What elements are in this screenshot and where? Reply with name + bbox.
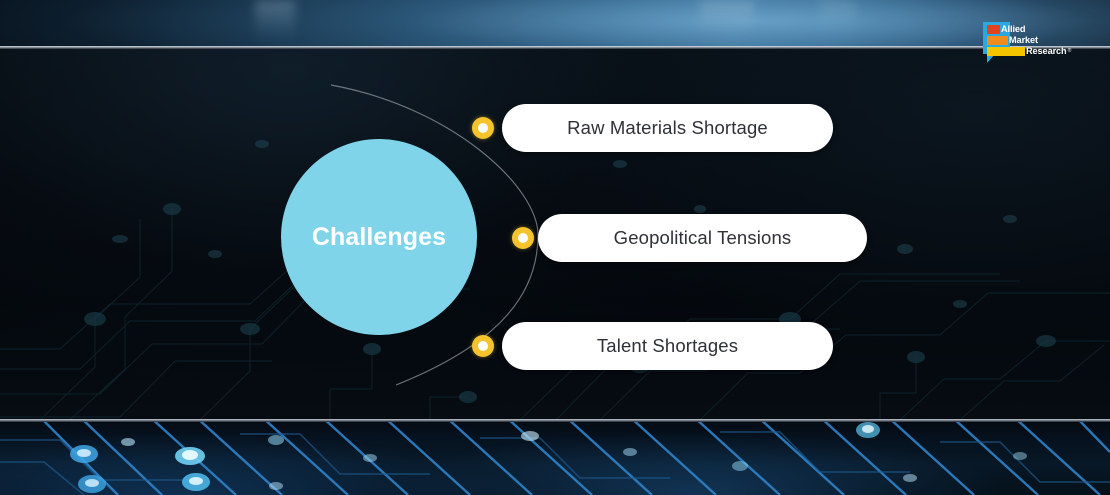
node-dot-icon-1: [472, 117, 494, 139]
infographic-canvas: Challenges Raw Materials Shortage Geopol…: [0, 0, 1110, 495]
logo-row-allied: Allied: [987, 25, 1071, 34]
challenge-pill-label: Geopolitical Tensions: [614, 227, 792, 249]
logo-trademark: ®: [1068, 47, 1072, 56]
challenge-pill-raw-materials-shortage[interactable]: Raw Materials Shortage: [502, 104, 833, 152]
challenge-pill-label: Talent Shortages: [597, 335, 738, 357]
hub-label: Challenges: [312, 223, 446, 252]
node-dot-icon-3: [472, 335, 494, 357]
header-light-wisp: [700, 0, 754, 47]
logo-bar-red: [987, 25, 1000, 34]
challenge-pill-talent-shortages[interactable]: Talent Shortages: [502, 322, 833, 370]
header-light-wisp: [255, 0, 295, 47]
bottom-circuit-traces-icon: [0, 422, 1110, 495]
center-hub-circle: Challenges: [281, 139, 477, 335]
logo-row-market: Market: [987, 36, 1071, 45]
logo-text-rows: Allied Market Research ®: [987, 25, 1071, 56]
logo-row-research: Research ®: [987, 47, 1071, 56]
logo-word-research: Research: [1026, 47, 1067, 56]
challenge-pill-geopolitical-tensions[interactable]: Geopolitical Tensions: [538, 214, 867, 262]
logo-word-allied: Allied: [1001, 25, 1025, 34]
logo-word-market: Market: [1009, 36, 1038, 45]
challenge-pill-label: Raw Materials Shortage: [567, 117, 768, 139]
node-dot-icon-2: [512, 227, 534, 249]
allied-market-research-logo[interactable]: Allied Market Research ®: [983, 22, 1071, 64]
logo-bar-yellow: [987, 47, 1025, 56]
header-band: [0, 0, 1110, 47]
bottom-circuit-band: [0, 422, 1110, 495]
logo-bar-orange: [987, 36, 1008, 45]
header-light-wisp: [820, 0, 856, 47]
